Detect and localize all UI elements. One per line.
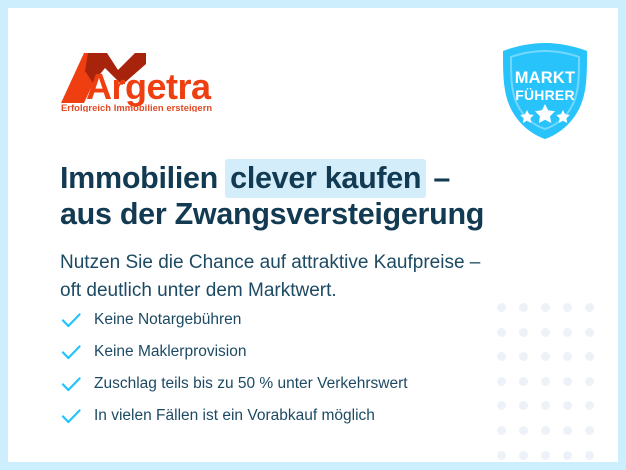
promo-banner: Argetra Erfolgreich Immobilien ersteiger… bbox=[0, 0, 626, 470]
grid-dot bbox=[585, 352, 594, 361]
grid-dot bbox=[541, 352, 550, 361]
list-item-label: Keine Maklerprovision bbox=[94, 343, 247, 361]
headline-text-before: Immobilien bbox=[60, 161, 226, 195]
market-leader-badge: MARKT FÜHRER bbox=[497, 41, 593, 141]
grid-dot bbox=[519, 401, 528, 410]
badge-line2: FÜHRER bbox=[515, 87, 575, 103]
headline-text-after: – bbox=[425, 161, 450, 195]
grid-dot bbox=[585, 401, 594, 410]
logo-tagline: Erfolgreich Immobilien ersteigern bbox=[61, 102, 212, 112]
list-item-label: In vielen Fällen ist ein Vorabkauf mögli… bbox=[94, 407, 375, 425]
grid-dot bbox=[519, 451, 528, 460]
list-item-label: Zuschlag teils bis zu 50 % unter Verkehr… bbox=[94, 375, 408, 393]
list-item: In vielen Fällen ist ein Vorabkauf mögli… bbox=[60, 400, 500, 431]
dot-grid-decoration bbox=[490, 303, 600, 462]
logo-wordmark: Argetra bbox=[86, 66, 212, 107]
grid-dot bbox=[563, 426, 572, 435]
benefits-checklist: Keine Notargebühren Keine Maklerprovisio… bbox=[60, 304, 500, 432]
grid-dot bbox=[497, 451, 506, 460]
grid-dot bbox=[541, 426, 550, 435]
grid-dot bbox=[541, 401, 550, 410]
list-item: Keine Maklerprovision bbox=[60, 336, 500, 367]
subtitle-line-1: Nutzen Sie die Chance auf attraktive Kau… bbox=[60, 249, 540, 277]
banner-card: Argetra Erfolgreich Immobilien ersteiger… bbox=[8, 8, 618, 462]
badge-line1: MARKT bbox=[515, 69, 576, 87]
list-item: Keine Notargebühren bbox=[60, 304, 500, 335]
grid-dot bbox=[563, 377, 572, 386]
headline-line-2: aus der Zwangsversteigerung bbox=[60, 196, 530, 232]
grid-dot bbox=[585, 377, 594, 386]
grid-dot bbox=[541, 303, 550, 312]
grid-dot bbox=[585, 303, 594, 312]
grid-dot bbox=[519, 426, 528, 435]
list-item: Zuschlag teils bis zu 50 % unter Verkehr… bbox=[60, 368, 500, 399]
headline-highlight: clever kaufen bbox=[225, 159, 426, 198]
grid-dot bbox=[563, 303, 572, 312]
grid-dot bbox=[541, 377, 550, 386]
subtitle: Nutzen Sie die Chance auf attraktive Kau… bbox=[60, 249, 540, 305]
grid-dot bbox=[585, 328, 594, 337]
list-item-label: Keine Notargebühren bbox=[94, 311, 241, 329]
check-icon bbox=[60, 373, 82, 395]
check-icon bbox=[60, 309, 82, 331]
check-icon bbox=[60, 405, 82, 427]
grid-dot bbox=[541, 328, 550, 337]
grid-dot bbox=[563, 352, 572, 361]
check-icon bbox=[60, 341, 82, 363]
grid-dot bbox=[563, 451, 572, 460]
argetra-logo[interactable]: Argetra Erfolgreich Immobilien ersteiger… bbox=[60, 50, 250, 112]
grid-dot bbox=[585, 451, 594, 460]
grid-dot bbox=[519, 377, 528, 386]
grid-dot bbox=[519, 328, 528, 337]
subtitle-line-2: oft deutlich unter dem Marktwert. bbox=[60, 277, 540, 305]
grid-dot bbox=[541, 451, 550, 460]
headline-line-1: Immobilien clever kaufen – bbox=[60, 160, 530, 196]
headline: Immobilien clever kaufen – aus der Zwang… bbox=[60, 160, 530, 232]
grid-dot bbox=[563, 328, 572, 337]
grid-dot bbox=[519, 352, 528, 361]
grid-dot bbox=[563, 401, 572, 410]
grid-dot bbox=[585, 426, 594, 435]
